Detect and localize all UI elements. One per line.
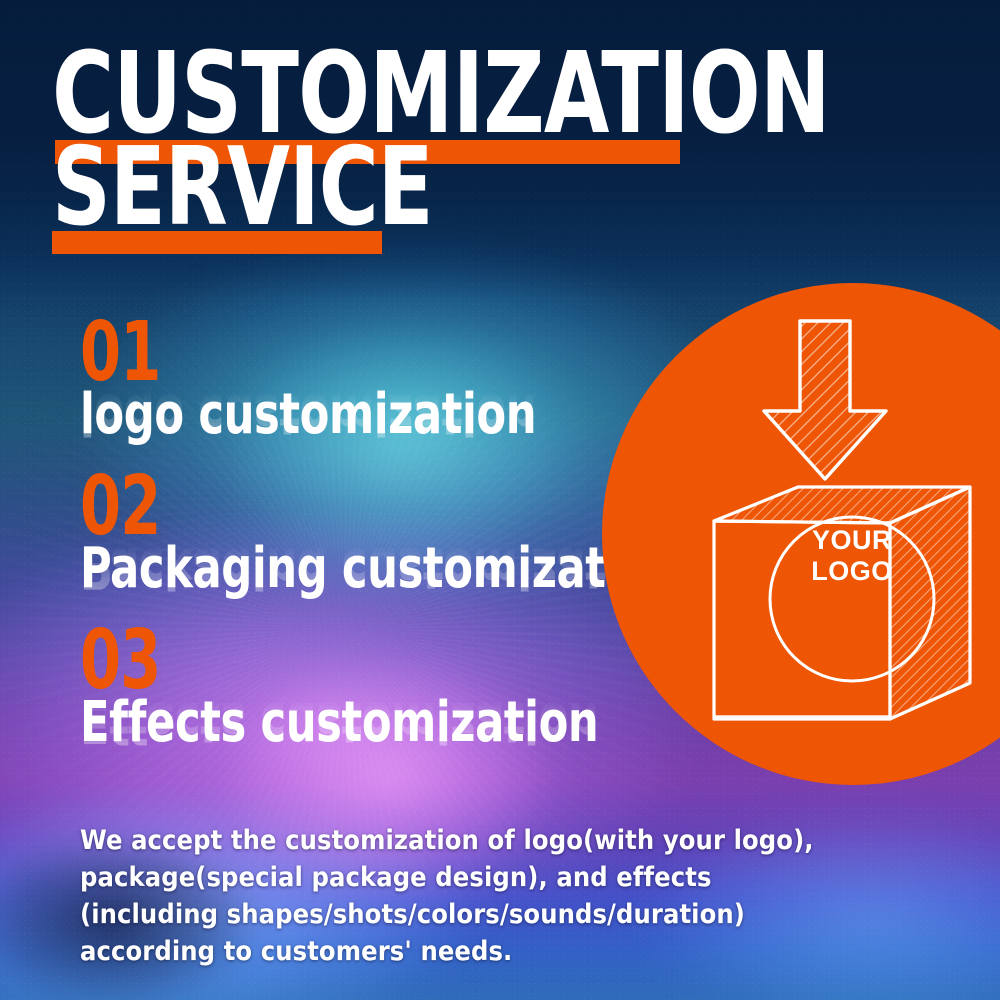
- service-label-wrap-01: logo customization logo customization: [80, 388, 640, 450]
- service-list: 01 logo customization logo customization…: [0, 318, 640, 780]
- service-item-03: 03 Effects customization Effects customi…: [0, 626, 640, 758]
- headline-line-two: SERVICE: [52, 138, 752, 234]
- service-label-01: logo customization: [80, 388, 536, 442]
- service-item-02: 02 Packaging customization Packaging cus…: [0, 472, 640, 604]
- orange-circle-badge: YOUR LOGO: [602, 283, 1000, 785]
- package-box-icon: [714, 487, 970, 719]
- headline-title-secondary: SERVICE: [52, 138, 433, 238]
- service-number-01: 01: [80, 318, 528, 388]
- service-label-03: Effects customization: [80, 696, 598, 750]
- body-description-text: We accept the customization of logo(with…: [80, 822, 850, 970]
- service-item-01: 01 logo customization logo customization: [0, 318, 640, 450]
- service-number-02: 02: [80, 472, 528, 542]
- service-label-wrap-02: Packaging customization Packaging custom…: [80, 542, 640, 604]
- your-logo-line-2: LOGO: [787, 556, 917, 587]
- service-label-wrap-03: Effects customization Effects customizat…: [80, 696, 640, 758]
- service-label-02: Packaging customization: [80, 542, 680, 596]
- customization-service-banner: CUSTOMIZATION SERVICE 01 logo customizat…: [0, 0, 1000, 1000]
- your-logo-line-1: YOUR: [787, 525, 917, 556]
- service-number-03: 03: [80, 626, 528, 696]
- down-arrow-icon: [764, 321, 886, 479]
- your-logo-text: YOUR LOGO: [787, 525, 917, 587]
- headline-block: CUSTOMIZATION SERVICE: [52, 42, 752, 234]
